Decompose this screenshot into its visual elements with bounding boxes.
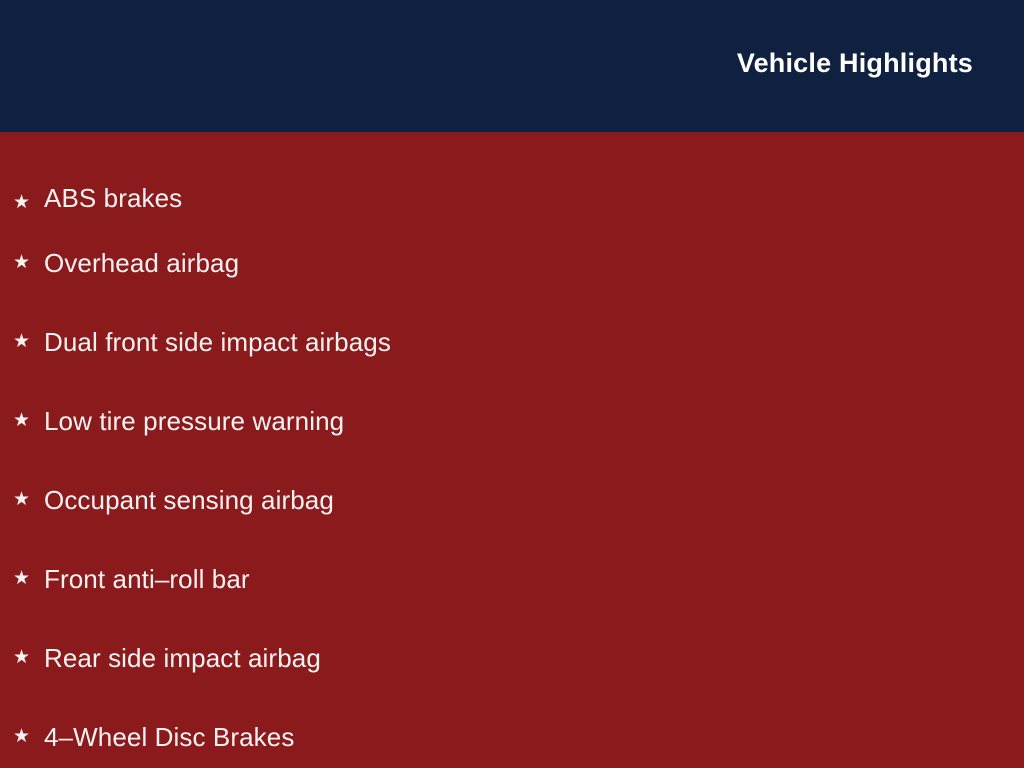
list-item: ★ ABS brakes	[0, 132, 1024, 224]
list-item: ★ Front anti–roll bar	[0, 540, 1024, 619]
vehicle-feature-list: ★ ABS brakes ★ Overhead airbag ★ Dual fr…	[0, 132, 1024, 768]
feature-label: Dual front side impact airbags	[44, 328, 391, 357]
star-icon: ★	[13, 253, 44, 272]
star-icon: ★	[13, 648, 44, 667]
star-icon: ★	[13, 490, 44, 509]
list-item: ★ Overhead airbag	[0, 224, 1024, 303]
slide-header-band: Vehicle Highlights	[0, 0, 1024, 132]
feature-label: Occupant sensing airbag	[44, 486, 334, 515]
feature-label: Overhead airbag	[44, 249, 239, 278]
feature-label: Low tire pressure warning	[44, 407, 344, 436]
page-title: Vehicle Highlights	[737, 50, 973, 77]
feature-label: ABS brakes	[44, 184, 182, 213]
feature-label: 4–Wheel Disc Brakes	[44, 723, 294, 752]
star-icon: ★	[13, 332, 44, 351]
vehicle-highlights-slide: Vehicle Highlights ★ ABS brakes ★ Overhe…	[0, 0, 1024, 768]
list-item: ★ 4–Wheel Disc Brakes	[0, 698, 1024, 768]
feature-label: Front anti–roll bar	[44, 565, 250, 594]
list-item: ★ Low tire pressure warning	[0, 382, 1024, 461]
star-icon: ★	[13, 193, 44, 212]
list-item: ★ Occupant sensing airbag	[0, 461, 1024, 540]
slide-body: ★ ABS brakes ★ Overhead airbag ★ Dual fr…	[0, 132, 1024, 768]
star-icon: ★	[13, 411, 44, 430]
star-icon: ★	[13, 569, 44, 588]
list-item: ★ Rear side impact airbag	[0, 619, 1024, 698]
star-icon: ★	[13, 727, 44, 746]
list-item: ★ Dual front side impact airbags	[0, 303, 1024, 382]
feature-label: Rear side impact airbag	[44, 644, 321, 673]
